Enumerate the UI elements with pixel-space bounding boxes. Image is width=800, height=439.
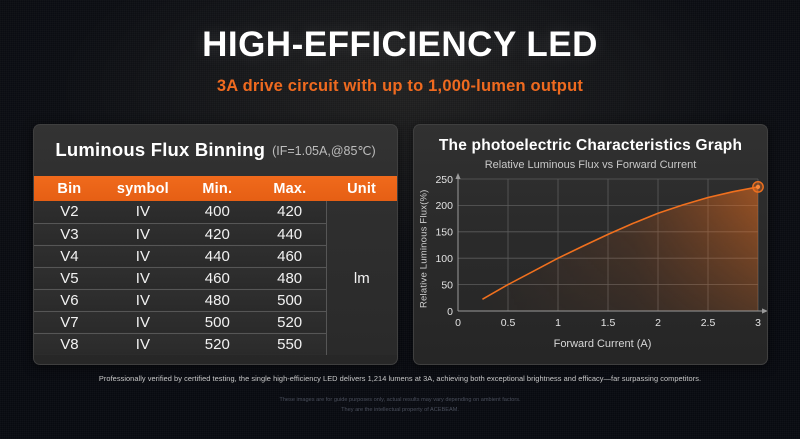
table-title-main: Luminous Flux Binning — [55, 139, 265, 161]
cell-bin: V4 — [34, 245, 105, 267]
svg-text:100: 100 — [435, 253, 453, 265]
page-subtitle: 3A drive circuit with up to 1,000-lumen … — [0, 77, 800, 96]
column-header-max: Max. — [254, 176, 327, 201]
photoelectric-characteristics-panel: The photoelectric Characteristics Graph … — [413, 124, 768, 365]
footer-disclaimer: These images are for guide purposes only… — [0, 396, 800, 416]
cell-max: 550 — [254, 333, 327, 355]
chart-plot-area: Relative Luminous Flux(%) Forward Curren… — [414, 171, 768, 356]
cell-max: 440 — [254, 223, 327, 245]
cell-max: 520 — [254, 311, 327, 333]
svg-text:50: 50 — [441, 279, 453, 291]
column-header-min: Min. — [181, 176, 254, 201]
svg-text:0: 0 — [455, 317, 461, 329]
cell-min: 520 — [181, 333, 254, 355]
cell-min: 400 — [181, 201, 254, 223]
svg-text:2: 2 — [655, 317, 661, 329]
cell-min: 480 — [181, 289, 254, 311]
svg-text:150: 150 — [435, 227, 453, 239]
disclaimer-line-1: These images are for guide purposes only… — [0, 396, 800, 406]
footer-verification-text: Professionally verified by certified tes… — [0, 374, 800, 383]
cell-bin: V6 — [34, 289, 105, 311]
cell-symbol: IV — [105, 223, 181, 245]
cell-symbol: IV — [105, 289, 181, 311]
chart-header: The photoelectric Characteristics Graph … — [414, 125, 767, 171]
table-title-conditions: (IF=1.05A,@85℃) — [272, 143, 376, 158]
svg-text:0: 0 — [447, 306, 453, 318]
column-header-bin: Bin — [34, 176, 105, 201]
chart-endpoint-marker — [753, 182, 763, 192]
svg-text:200: 200 — [435, 200, 453, 212]
promo-page: HIGH-EFFICIENCY LED 3A drive circuit wit… — [0, 0, 800, 439]
cell-unit: lm — [326, 201, 397, 355]
svg-text:3: 3 — [755, 317, 761, 329]
cell-bin: V2 — [34, 201, 105, 223]
svg-text:2.5: 2.5 — [701, 317, 716, 329]
cell-symbol: IV — [105, 267, 181, 289]
cell-max: 480 — [254, 267, 327, 289]
chart-title: The photoelectric Characteristics Graph — [414, 137, 767, 155]
table-title: Luminous Flux Binning (IF=1.05A,@85℃) — [34, 125, 397, 176]
cell-symbol: IV — [105, 311, 181, 333]
svg-text:1.5: 1.5 — [601, 317, 616, 329]
cell-bin: V3 — [34, 223, 105, 245]
cell-max: 460 — [254, 245, 327, 267]
cell-bin: V5 — [34, 267, 105, 289]
cell-min: 420 — [181, 223, 254, 245]
cell-min: 500 — [181, 311, 254, 333]
header-section: HIGH-EFFICIENCY LED 3A drive circuit wit… — [0, 0, 800, 96]
cell-symbol: IV — [105, 245, 181, 267]
svg-text:1: 1 — [555, 317, 561, 329]
svg-text:0.5: 0.5 — [501, 317, 516, 329]
cell-bin: V8 — [34, 333, 105, 355]
cell-symbol: IV — [105, 201, 181, 223]
table-header-row: Bin symbol Min. Max. Unit — [34, 176, 397, 201]
cell-min: 440 — [181, 245, 254, 267]
cell-max: 420 — [254, 201, 327, 223]
column-header-symbol: symbol — [105, 176, 181, 201]
page-title: HIGH-EFFICIENCY LED — [0, 26, 800, 64]
cell-bin: V7 — [34, 311, 105, 333]
binning-table: Bin symbol Min. Max. Unit V2 IV 400 420 … — [34, 176, 397, 355]
cell-min: 460 — [181, 267, 254, 289]
table-row: V2 IV 400 420 lm — [34, 201, 397, 223]
svg-text:250: 250 — [435, 174, 453, 186]
chart-y-tick-labels: 250 200 150 100 50 0 — [435, 174, 453, 318]
luminous-flux-binning-panel: Luminous Flux Binning (IF=1.05A,@85℃) Bi… — [33, 124, 398, 365]
column-header-unit: Unit — [326, 176, 397, 201]
chart-x-tick-labels: 0 0.5 1 1.5 2 2.5 3 — [455, 317, 761, 329]
chart-subtitle: Relative Luminous Flux vs Forward Curren… — [414, 159, 767, 171]
chart-svg: 250 200 150 100 50 0 0 0.5 1 1.5 2 — [414, 171, 768, 356]
disclaimer-line-2: They are the intellectual property of AC… — [0, 406, 800, 416]
cell-max: 500 — [254, 289, 327, 311]
cell-symbol: IV — [105, 333, 181, 355]
